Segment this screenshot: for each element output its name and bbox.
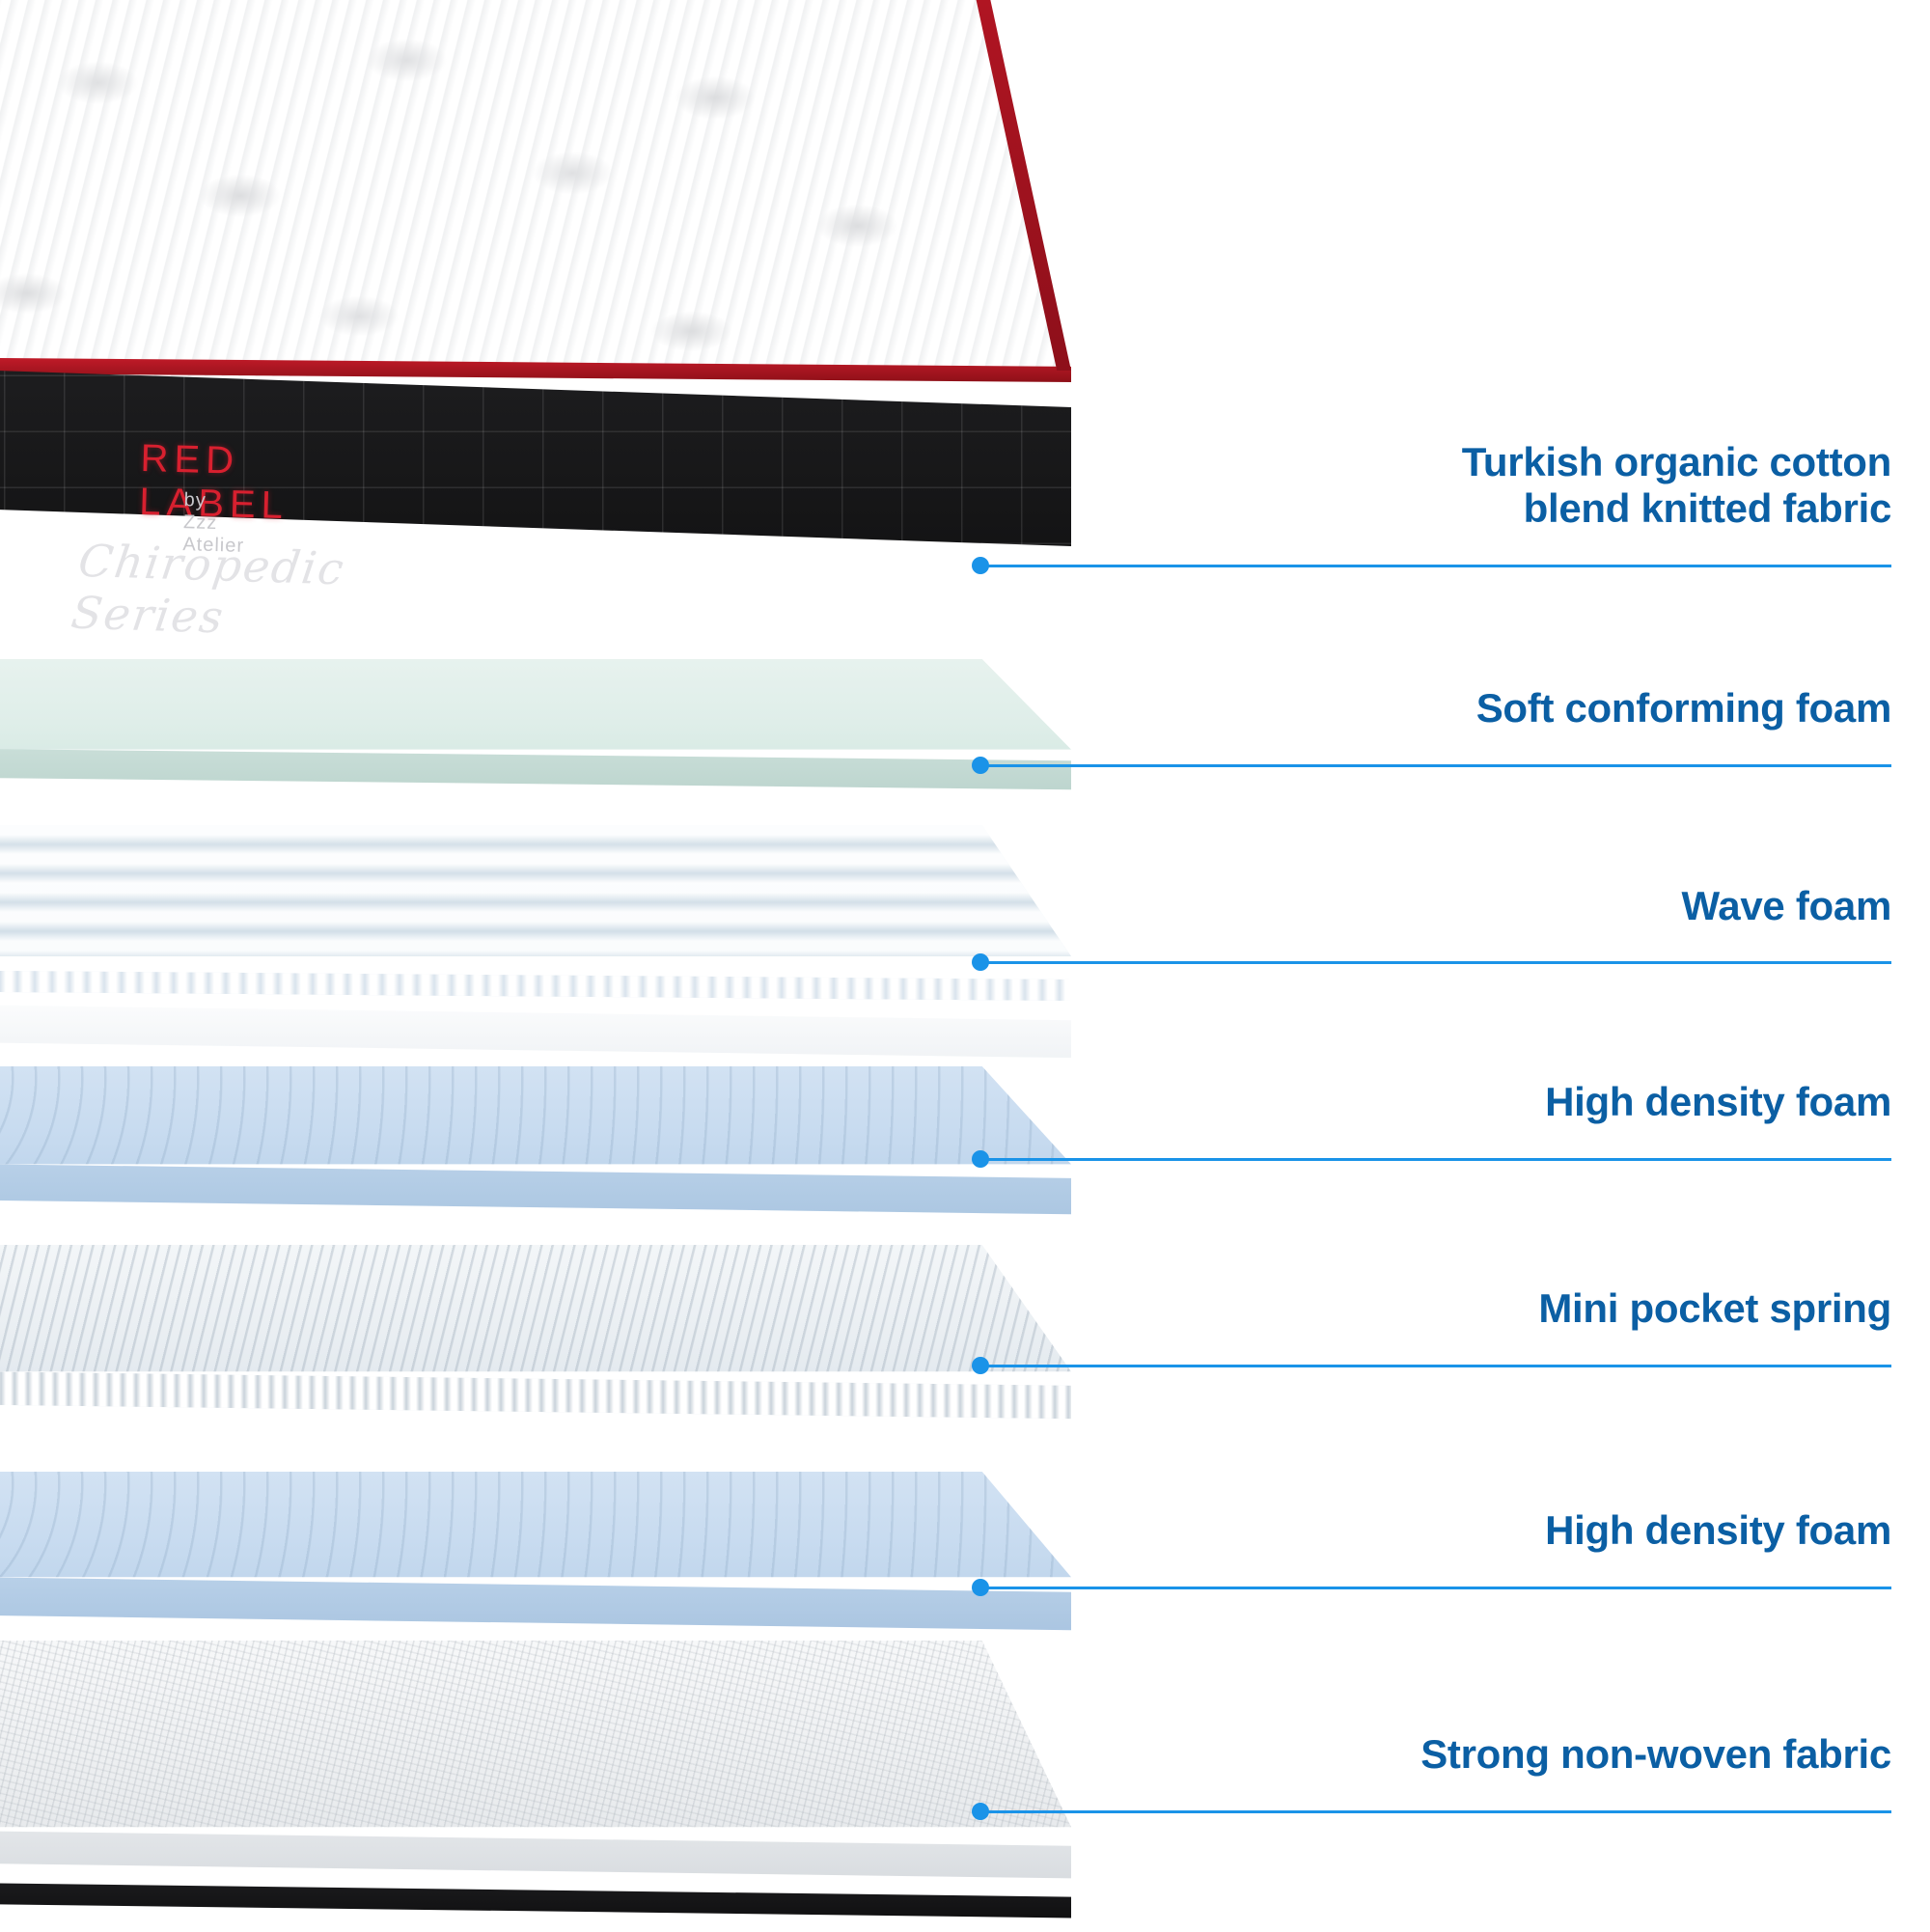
slab-high-density-foam-lower: [0, 1472, 1071, 1665]
label-mini-pocket-spring-line-1: Mini pocket spring: [1235, 1285, 1891, 1332]
wave-foam-top-face: [0, 825, 1071, 989]
label-cover-line-2: blend knitted fabric: [1235, 485, 1891, 532]
leader-line-non-woven-fabric: [986, 1810, 1891, 1813]
leader-line-wave-foam: [986, 961, 1891, 964]
label-cover: Turkish organic cotton blend knitted fab…: [1235, 439, 1891, 532]
slab-wave-foam: [0, 825, 1071, 1066]
label-wave-foam: Wave foam: [1235, 883, 1891, 929]
slab-mini-pocket-spring: [0, 1245, 1071, 1467]
label-high-density-foam-upper-line-1: High density foam: [1235, 1079, 1891, 1125]
slab-high-density-foam-upper: [0, 1066, 1071, 1250]
wave-foam-base-slab: [0, 1004, 1071, 1073]
hd-foam-lower-front-face: [0, 1576, 1071, 1649]
leader-line-cover: [986, 565, 1891, 567]
leader-line-mini-pocket-spring: [986, 1365, 1891, 1367]
mattress-base-shadow: [0, 1882, 1071, 1932]
mattress-quilted-top: [0, 0, 1071, 376]
hd-foam-upper-front-face: [0, 1163, 1071, 1232]
slab-non-woven-fabric: [0, 1641, 1071, 1930]
soft-foam-front-face: [0, 748, 1071, 806]
leader-line-high-density-foam-upper: [986, 1158, 1891, 1161]
label-high-density-foam-lower-line-1: High density foam: [1235, 1507, 1891, 1554]
slab-soft-conforming-foam: [0, 659, 1071, 823]
label-non-woven-fabric: Strong non-woven fabric: [1216, 1731, 1891, 1778]
label-wave-foam-line-1: Wave foam: [1235, 883, 1891, 929]
label-mini-pocket-spring: Mini pocket spring: [1235, 1285, 1891, 1332]
diagram-canvas: RED LABEL by Zzz Atelier Chiropedic Seri…: [0, 0, 1930, 1930]
label-non-woven-fabric-line-1: Strong non-woven fabric: [1216, 1731, 1891, 1778]
label-cover-line-1: Turkish organic cotton: [1235, 439, 1891, 485]
leader-line-high-density-foam-lower: [986, 1587, 1891, 1589]
label-soft-conforming-foam-line-1: Soft conforming foam: [1235, 685, 1891, 731]
label-high-density-foam-upper: High density foam: [1235, 1079, 1891, 1125]
pocket-spring-front-face: [0, 1370, 1071, 1434]
brand-series: Chiropedic Series: [69, 535, 348, 647]
non-woven-top-face: [0, 1641, 1071, 1863]
label-soft-conforming-foam: Soft conforming foam: [1235, 685, 1891, 731]
label-high-density-foam-lower: High density foam: [1235, 1507, 1891, 1554]
leader-line-soft-conforming-foam: [986, 764, 1891, 767]
